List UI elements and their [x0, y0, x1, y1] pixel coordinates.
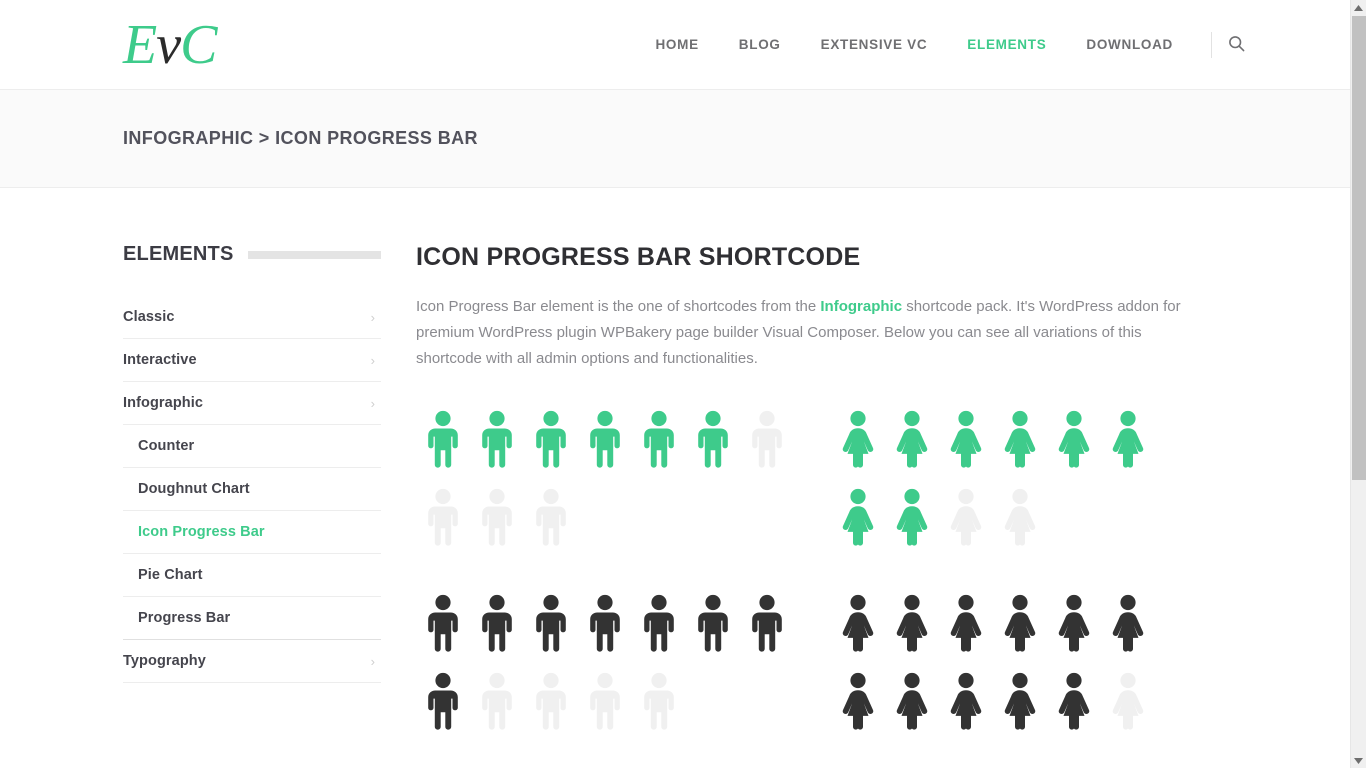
icon-filled — [831, 400, 885, 478]
icon-filled — [632, 400, 686, 478]
icon-filled — [993, 584, 1047, 662]
male-icon — [425, 488, 461, 546]
sidebar-list: Classic › Interactive › Infographic › Co… — [123, 296, 381, 683]
infographic-link[interactable]: Infographic — [820, 298, 902, 315]
icon-empty — [632, 662, 686, 740]
sidebar-item-classic[interactable]: Classic › — [123, 296, 381, 339]
icon-empty — [524, 478, 578, 556]
female-icon — [838, 672, 878, 730]
nav-item-elements[interactable]: ELEMENTS — [947, 37, 1066, 52]
site-header: EvC HOME BLOG EXTENSIVE VC ELEMENTS DOWN… — [0, 0, 1350, 90]
male-icon — [641, 672, 677, 730]
site-logo[interactable]: EvC — [123, 17, 216, 73]
male-icon — [641, 410, 677, 468]
male-icon — [425, 594, 461, 652]
female-icon — [838, 410, 878, 468]
icon-filled — [524, 584, 578, 662]
male-icon — [533, 672, 569, 730]
sidebar-item-label: Pie Chart — [138, 567, 203, 583]
icon-filled — [1047, 400, 1101, 478]
main-column: ICON PROGRESS BAR SHORTCODE Icon Progres… — [381, 243, 1350, 740]
nav-item-extensive-vc[interactable]: EXTENSIVE VC — [801, 37, 948, 52]
icon-filled — [993, 662, 1047, 740]
icon-empty — [993, 478, 1047, 556]
icon-filled — [686, 400, 740, 478]
nav-item-download[interactable]: DOWNLOAD — [1066, 37, 1193, 52]
male-icon — [749, 410, 785, 468]
sidebar-item-label: Classic — [123, 309, 175, 325]
sidebar-item-label: Progress Bar — [138, 610, 230, 626]
sidebar-item-label: Infographic — [123, 395, 203, 411]
sidebar-item-infographic[interactable]: Infographic › — [123, 382, 381, 425]
sidebar-item-pie-chart[interactable]: Pie Chart — [123, 554, 381, 597]
male-icon — [425, 672, 461, 730]
female-icon — [1108, 594, 1148, 652]
male-icon — [587, 672, 623, 730]
icon-filled — [416, 400, 470, 478]
female-icon — [1108, 672, 1148, 730]
icon-empty — [470, 478, 524, 556]
logo-letter-v: v — [156, 14, 180, 76]
male-icon — [533, 594, 569, 652]
female-icon — [1054, 410, 1094, 468]
page-title: ICON PROGRESS BAR SHORTCODE — [416, 243, 1246, 272]
female-icon — [1000, 672, 1040, 730]
sidebar-item-label: Interactive — [123, 352, 197, 368]
chevron-right-icon: › — [371, 311, 381, 324]
male-icon — [587, 410, 623, 468]
sidebar-item-interactive[interactable]: Interactive › — [123, 339, 381, 382]
breadcrumb-bar: INFOGRAPHIC > ICON PROGRESS BAR — [0, 90, 1350, 188]
main-navigation: HOME BLOG EXTENSIVE VC ELEMENTS DOWNLOAD — [635, 31, 1350, 59]
icon-filled — [524, 400, 578, 478]
sidebar-item-progress-bar[interactable]: Progress Bar — [123, 597, 381, 640]
icon-filled — [740, 584, 794, 662]
icon-filled — [578, 584, 632, 662]
page-root: EvC HOME BLOG EXTENSIVE VC ELEMENTS DOWN… — [0, 0, 1350, 768]
nav-divider — [1211, 32, 1212, 58]
icon-filled — [885, 478, 939, 556]
sidebar-item-doughnut-chart[interactable]: Doughnut Chart — [123, 468, 381, 511]
female-icon — [838, 488, 878, 546]
scrollbar-thumb[interactable] — [1352, 16, 1366, 480]
sidebar-item-typography[interactable]: Typography › — [123, 640, 381, 683]
female-icon — [946, 594, 986, 652]
icon-filled — [885, 400, 939, 478]
icon-grid — [416, 400, 794, 556]
icon-progress-bar-female-dark — [831, 584, 1246, 740]
female-icon — [946, 410, 986, 468]
nav-item-blog[interactable]: BLOG — [719, 37, 801, 52]
female-icon — [892, 410, 932, 468]
sidebar-item-label: Counter — [138, 438, 194, 454]
browser-scrollbar[interactable] — [1350, 0, 1366, 768]
scrollbar-arrow-down-icon[interactable] — [1351, 753, 1366, 768]
icon-filled — [470, 584, 524, 662]
icon-empty — [1101, 662, 1155, 740]
icon-filled — [686, 584, 740, 662]
male-icon — [479, 672, 515, 730]
male-icon — [533, 410, 569, 468]
male-icon — [479, 594, 515, 652]
browser-viewport: EvC HOME BLOG EXTENSIVE VC ELEMENTS DOWN… — [0, 0, 1366, 768]
logo-letter-c: C — [180, 14, 216, 76]
icon-filled — [885, 662, 939, 740]
icon-filled — [416, 584, 470, 662]
female-icon — [1108, 410, 1148, 468]
icon-empty — [939, 478, 993, 556]
scrollbar-arrow-up-icon[interactable] — [1351, 0, 1366, 15]
male-icon — [587, 594, 623, 652]
icon-grid — [416, 584, 794, 740]
icon-filled — [416, 662, 470, 740]
female-icon — [892, 594, 932, 652]
male-icon — [641, 594, 677, 652]
icon-progress-bars-top — [416, 400, 1246, 556]
icon-filled — [1047, 662, 1101, 740]
sidebar-header: ELEMENTS — [123, 243, 381, 266]
sidebar-title-rule — [248, 251, 382, 259]
icon-filled — [885, 584, 939, 662]
page-content: ELEMENTS Classic › Interactive › Infogra… — [0, 188, 1350, 740]
icon-filled — [939, 662, 993, 740]
icon-filled — [831, 584, 885, 662]
sidebar-item-counter[interactable]: Counter — [123, 425, 381, 468]
male-icon — [533, 488, 569, 546]
icon-filled — [939, 584, 993, 662]
icon-filled — [1047, 584, 1101, 662]
icon-grid — [831, 400, 1155, 556]
nav-item-home[interactable]: HOME — [635, 37, 718, 52]
male-icon — [479, 410, 515, 468]
female-icon — [1054, 594, 1094, 652]
female-icon — [946, 488, 986, 546]
description-text-part1: Icon Progress Bar element is the one of … — [416, 298, 820, 315]
male-icon — [695, 410, 731, 468]
search-icon — [1228, 35, 1245, 55]
sidebar-item-label: Icon Progress Bar — [138, 524, 265, 540]
icon-progress-bar-male-dark — [416, 584, 831, 740]
male-icon — [695, 594, 731, 652]
icon-filled — [831, 662, 885, 740]
icon-grid — [831, 584, 1155, 740]
chevron-right-icon: › — [371, 397, 381, 410]
male-icon — [479, 488, 515, 546]
icon-progress-bar-female-green — [831, 400, 1246, 556]
icon-empty — [578, 662, 632, 740]
icon-filled — [578, 400, 632, 478]
sidebar-item-label: Doughnut Chart — [138, 481, 250, 497]
male-icon — [749, 594, 785, 652]
male-icon — [425, 410, 461, 468]
sidebar-item-label: Typography — [123, 653, 206, 669]
female-icon — [892, 672, 932, 730]
chevron-right-icon: › — [371, 655, 381, 668]
icon-empty — [740, 400, 794, 478]
icon-filled — [993, 400, 1047, 478]
female-icon — [838, 594, 878, 652]
icon-progress-bar-male-green — [416, 400, 831, 556]
icon-filled — [470, 400, 524, 478]
icon-filled — [831, 478, 885, 556]
female-icon — [946, 672, 986, 730]
female-icon — [1000, 594, 1040, 652]
sidebar-item-icon-progress-bar[interactable]: Icon Progress Bar — [123, 511, 381, 554]
icon-filled — [1101, 400, 1155, 478]
icon-filled — [632, 584, 686, 662]
icon-progress-bars-bottom — [416, 584, 1246, 740]
page-description: Icon Progress Bar element is the one of … — [416, 294, 1211, 372]
female-icon — [892, 488, 932, 546]
logo-letter-e: E — [123, 14, 156, 76]
search-button[interactable] — [1222, 31, 1250, 59]
icon-filled — [1101, 584, 1155, 662]
icon-empty — [416, 478, 470, 556]
female-icon — [1054, 672, 1094, 730]
icon-filled — [939, 400, 993, 478]
icon-empty — [524, 662, 578, 740]
breadcrumb: INFOGRAPHIC > ICON PROGRESS BAR — [123, 128, 478, 149]
icon-empty — [470, 662, 524, 740]
sidebar-title: ELEMENTS — [123, 243, 234, 266]
chevron-right-icon: › — [371, 354, 381, 367]
sidebar: ELEMENTS Classic › Interactive › Infogra… — [123, 243, 381, 740]
female-icon — [1000, 410, 1040, 468]
female-icon — [1000, 488, 1040, 546]
